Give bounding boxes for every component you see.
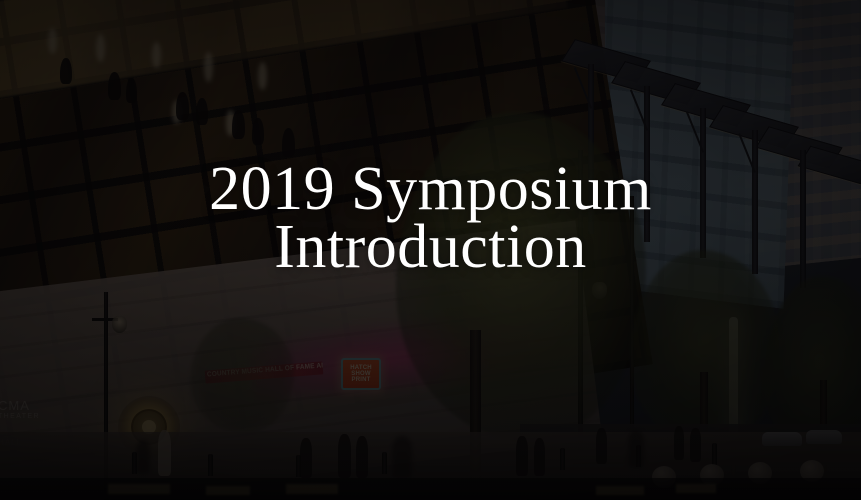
band-highlight <box>286 484 338 494</box>
concrete-sphere <box>700 464 724 486</box>
cma-theater-sign-line-1: CMA <box>0 398 38 413</box>
band-highlight <box>206 486 250 495</box>
slide-title-block: 2019 Symposium Introduction <box>0 160 861 276</box>
band-highlight <box>108 484 170 494</box>
omni-hotel-sign-text: OMNI <box>404 0 452 16</box>
parked-car <box>806 430 842 444</box>
canopy-brace <box>630 89 648 131</box>
canopy-brace <box>574 67 592 109</box>
pendant-light <box>258 62 267 90</box>
pedestrian <box>136 440 150 474</box>
pendant-light <box>96 34 105 62</box>
bollard <box>382 452 387 474</box>
slide-title-line-2: Introduction <box>0 218 861 276</box>
band-highlight <box>596 486 644 495</box>
cma-theater-sign: CMA THEATER <box>0 398 38 426</box>
street-tree <box>190 318 294 434</box>
pedestrian <box>690 428 701 462</box>
pedestrian <box>338 434 351 478</box>
concrete-sphere <box>652 466 676 488</box>
tree-trunk <box>470 330 481 480</box>
cma-secondary-sign: HALL <box>0 438 22 447</box>
person-silhouette <box>282 128 295 157</box>
pedestrian <box>516 436 528 476</box>
person-silhouette <box>176 92 189 120</box>
pedestrian <box>628 430 644 468</box>
cma-theater-sign-line-2: THEATER <box>0 413 38 420</box>
person-silhouette <box>196 98 208 125</box>
concrete-sphere <box>748 462 772 484</box>
person-silhouette <box>232 110 245 139</box>
band-highlight <box>676 484 716 493</box>
pedestrian <box>596 428 607 464</box>
slide-title-line-1: 2019 Symposium <box>0 160 861 218</box>
canopy-panel <box>611 61 701 105</box>
bollard <box>712 443 717 465</box>
pedestrian <box>674 426 684 460</box>
led-column-pole <box>731 441 736 493</box>
lamp-post <box>104 292 108 500</box>
canopy-brace <box>686 111 704 153</box>
omni-hotel-signboard <box>360 0 545 39</box>
pedestrian <box>392 436 412 478</box>
lit-interior-band <box>0 0 567 105</box>
person-silhouette <box>60 58 72 84</box>
hatch-sign-line-3: PRINT <box>352 377 371 383</box>
canopy-panel <box>561 39 651 83</box>
person-silhouette <box>108 72 121 100</box>
pendant-light <box>48 28 57 54</box>
pedestrian <box>158 430 171 476</box>
hatch-show-print-neon-sign: HATCH SHOW PRINT <box>341 358 381 390</box>
concrete-sphere <box>800 460 824 482</box>
pendant-light <box>152 42 161 68</box>
seal-hub <box>142 420 156 434</box>
parked-car <box>762 432 802 446</box>
pedestrian <box>356 436 368 478</box>
person-silhouette <box>126 78 137 103</box>
symposium-title-slide: OMNI <box>0 0 861 500</box>
person-silhouette <box>252 118 264 145</box>
pedestrian <box>534 438 545 476</box>
lamp-head <box>112 316 127 333</box>
pedestrian <box>300 438 312 478</box>
bollard <box>560 448 565 470</box>
pendant-light <box>204 52 213 82</box>
canopy-panel <box>661 83 751 127</box>
bollard <box>208 454 213 476</box>
canopy-panel <box>709 105 799 149</box>
